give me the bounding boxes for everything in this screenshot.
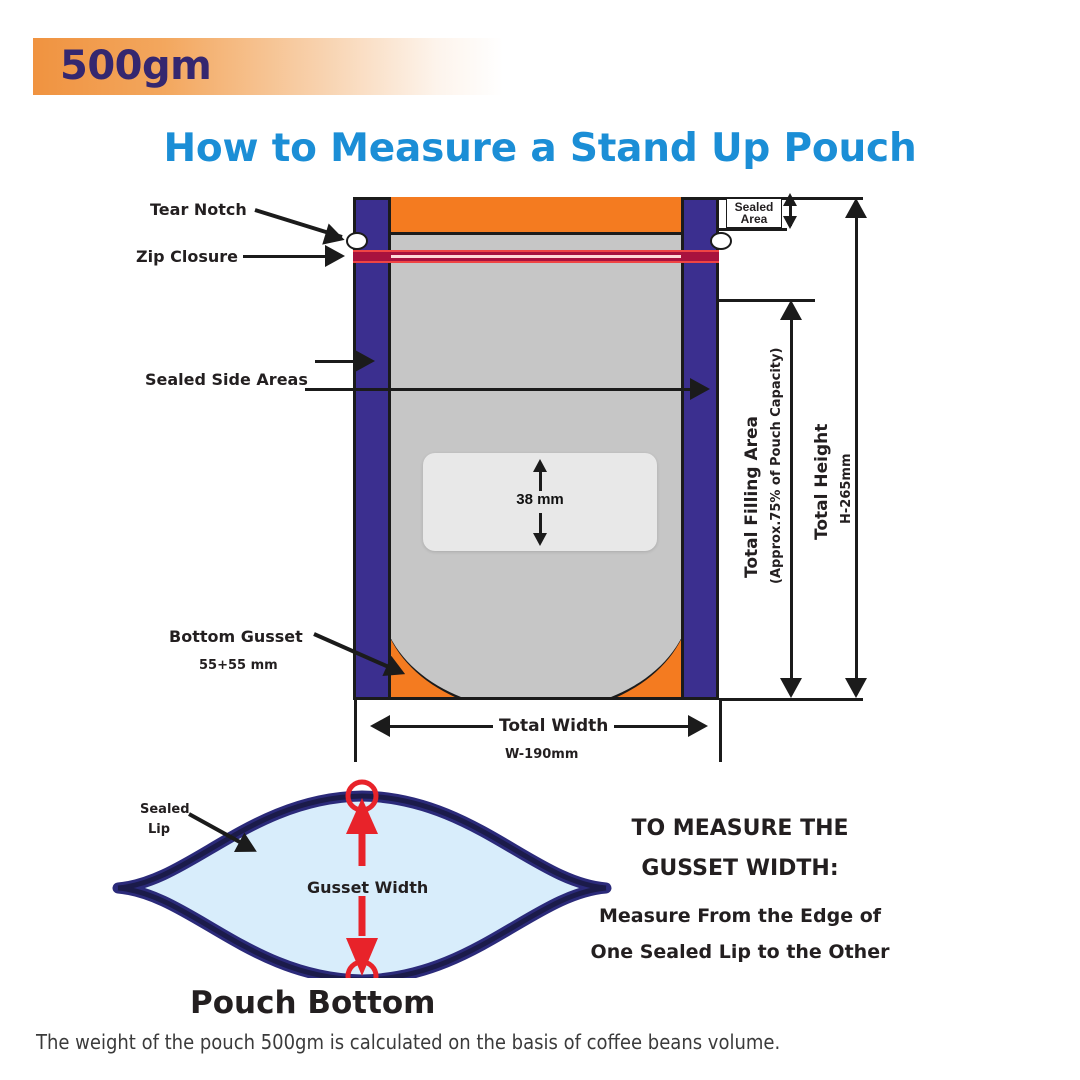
- sealed-area-callout-box: SealedArea: [726, 198, 782, 228]
- total-width-arrow-head-left: [370, 715, 390, 737]
- sealed-area-arrow-head-down: [783, 216, 797, 229]
- guide-bottom-rule: [719, 698, 863, 701]
- total-filling-area-label: Total Filling Area: [742, 416, 762, 578]
- total-height-arrow-head-up: [845, 198, 867, 218]
- footnote-text: The weight of the pouch 500gm is calcula…: [36, 1030, 780, 1054]
- sealed-area-arrow-head-up: [783, 193, 797, 206]
- total-filling-area-sublabel: (Approx.75% of Pouch Capacity): [765, 348, 784, 584]
- panel-up-arrow-head: [533, 459, 547, 472]
- pouch-sealed-side-left: [353, 197, 391, 700]
- total-width-label: Total Width: [493, 716, 614, 736]
- total-height-arrow-head-down: [845, 678, 867, 698]
- total-filling-arrow-shaft: [790, 318, 793, 680]
- tear-notch-right-icon: [710, 232, 732, 250]
- sealed-area-label: SealedArea: [735, 201, 774, 225]
- width-guide-right-rule: [719, 698, 722, 762]
- panel-down-arrow-head: [533, 533, 547, 546]
- page-title: How to Measure a Stand Up Pouch: [0, 126, 1080, 171]
- total-width-value: W-190mm: [505, 747, 578, 762]
- weight-badge: 500gm: [33, 38, 503, 95]
- total-filling-arrow-head-down: [780, 678, 802, 698]
- infographic-canvas: 500gm How to Measure a Stand Up Pouch 38…: [0, 0, 1080, 1080]
- pouch-sealed-side-right: [681, 197, 719, 700]
- callout-zip-closure-label: Zip Closure: [136, 247, 238, 266]
- zip-closure-arrow-head: [325, 245, 345, 267]
- total-filling-arrow-head-up: [780, 300, 802, 320]
- panel-down-arrow-shaft: [539, 513, 542, 535]
- guide-sealed-area-rule: [719, 228, 787, 231]
- panel-up-arrow-shaft: [539, 469, 542, 491]
- sealed-lip-label-line2: Lip: [148, 822, 170, 837]
- pouch-interior-width-arrow-head: [690, 378, 710, 400]
- measure-instruction-body-2: One Sealed Lip to the Other: [560, 941, 920, 963]
- tear-notch-leader-line: [250, 200, 370, 250]
- label-panel-height-value: 38 mm: [423, 491, 657, 508]
- callout-tear-notch-label: Tear Notch: [150, 200, 247, 219]
- total-height-value: H-265mm: [835, 453, 854, 524]
- pouch-top-strip: [353, 197, 719, 235]
- callout-bottom-gusset-value: 55+55 mm: [199, 658, 278, 673]
- width-guide-left-rule: [354, 700, 357, 762]
- gusset-arc: [391, 600, 681, 700]
- pouch-bottom-title: Pouch Bottom: [190, 985, 436, 1021]
- zip-closure-strip: [353, 250, 719, 263]
- sealed-lip-leader-line: [185, 808, 275, 868]
- measure-instruction-body-1: Measure From the Edge of: [560, 905, 920, 927]
- callout-bottom-gusset-label: Bottom Gusset: [169, 627, 303, 646]
- total-height-label: Total Height: [812, 424, 832, 540]
- sealed-lip-label-line1: Sealed: [140, 802, 190, 817]
- sealed-side-leader-line: [315, 360, 357, 363]
- callout-sealed-side-areas-label: Sealed Side Areas: [145, 370, 308, 389]
- total-width-arrow-head-right: [688, 715, 708, 737]
- label-panel: 38 mm: [423, 453, 657, 551]
- sealed-side-arrow-head: [355, 350, 375, 372]
- measure-instruction-heading-1: TO MEASURE THE: [560, 816, 920, 841]
- measure-instruction-heading-2: GUSSET WIDTH:: [560, 856, 920, 881]
- bottom-gusset-leader-line: [310, 628, 420, 688]
- gusset-width-label: Gusset Width: [307, 878, 428, 897]
- total-height-arrow-shaft: [855, 216, 858, 680]
- zip-closure-leader-line: [243, 255, 327, 258]
- weight-badge-label: 500gm: [60, 43, 211, 89]
- pouch-interior-width-line: [305, 388, 697, 391]
- pouch-bottom-gusset-region: [391, 600, 681, 700]
